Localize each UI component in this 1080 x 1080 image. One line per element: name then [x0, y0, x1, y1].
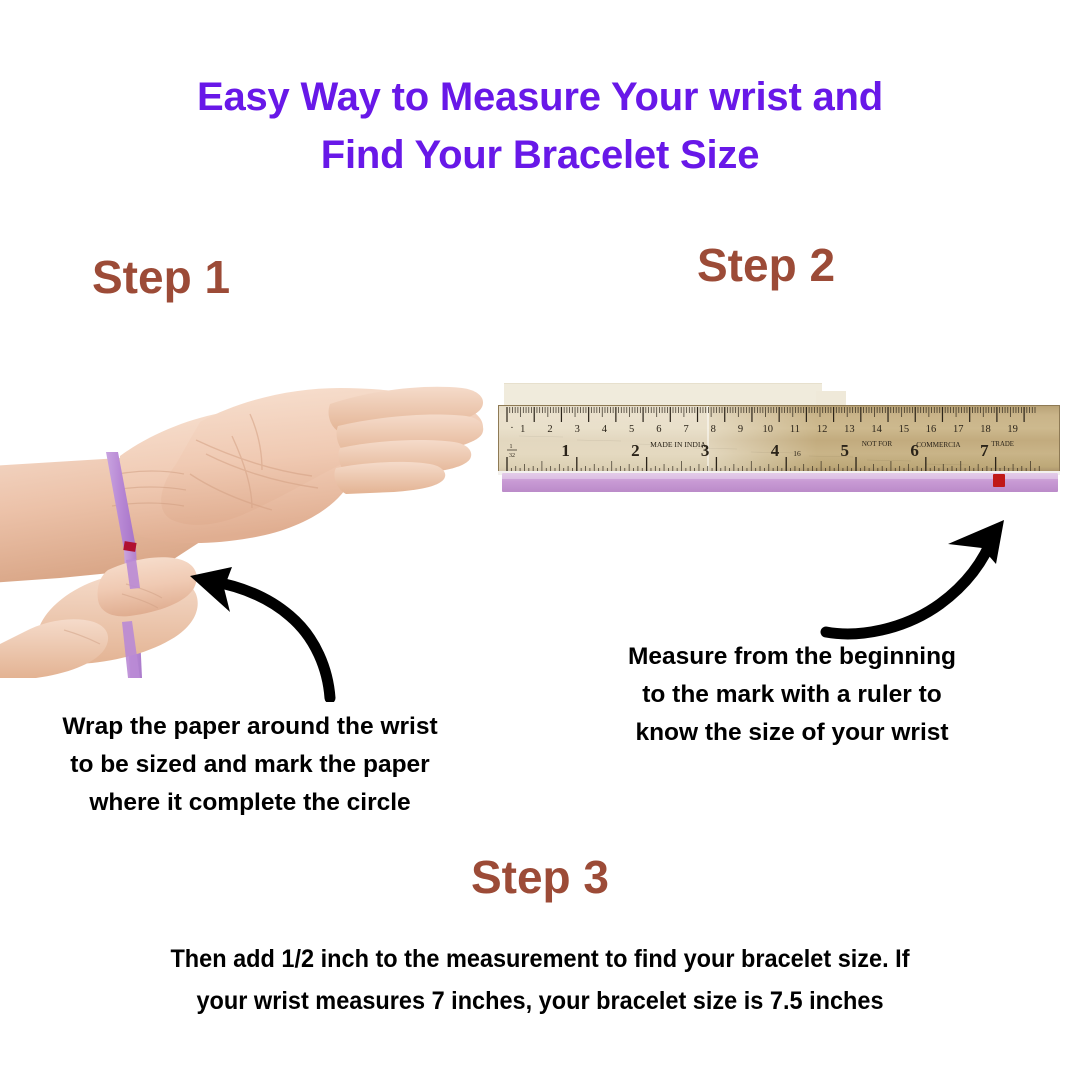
curved-arrow-up-left-icon	[178, 562, 348, 702]
wooden-ruler-over-paper-strip-photo: 12345678910111213141516171819·1234567132…	[498, 383, 1064, 495]
step-2-caption: Measure from the beginning to the mark w…	[572, 638, 1012, 752]
svg-text:6: 6	[656, 424, 661, 435]
svg-text:4: 4	[602, 424, 608, 435]
svg-text:12: 12	[817, 424, 828, 435]
step-1-caption: Wrap the paper around the wrist to be si…	[10, 708, 490, 822]
svg-text:·: ·	[510, 422, 514, 434]
curved-arrow-up-right-icon	[818, 512, 1018, 644]
page-title-line-2: Find Your Bracelet Size	[0, 126, 1080, 184]
svg-text:8: 8	[711, 424, 716, 435]
ruler-body: 12345678910111213141516171819·1234567132…	[498, 405, 1060, 473]
step-2-caption-line-3: know the size of your wrist	[572, 714, 1012, 752]
svg-text:14: 14	[871, 424, 882, 435]
svg-text:1: 1	[520, 424, 525, 435]
svg-text:1: 1	[510, 444, 513, 450]
svg-text:15: 15	[899, 424, 910, 435]
svg-text:7: 7	[980, 441, 989, 460]
svg-text:3: 3	[575, 424, 580, 435]
step-1-caption-line-2: to be sized and mark the paper	[10, 746, 490, 784]
step-1-caption-line-3: where it complete the circle	[10, 784, 490, 822]
purple-paper-strip	[502, 473, 1058, 492]
step-2-caption-line-1: Measure from the beginning	[572, 638, 1012, 676]
svg-text:NOT FOR: NOT FOR	[862, 440, 893, 448]
svg-text:COMMERCIA: COMMERCIA	[916, 441, 961, 449]
page-title: Easy Way to Measure Your wrist and Find …	[0, 68, 1080, 184]
svg-text:16: 16	[793, 449, 801, 458]
svg-text:4: 4	[771, 441, 780, 460]
paper-strip-highlight	[502, 473, 1058, 479]
svg-text:19: 19	[1007, 424, 1018, 435]
svg-text:11: 11	[790, 424, 800, 435]
step-2-caption-line-2: to the mark with a ruler to	[572, 676, 1012, 714]
svg-text:16: 16	[926, 424, 937, 435]
infographic-page: Easy Way to Measure Your wrist and Find …	[0, 0, 1080, 1080]
step-2-heading: Step 2	[697, 238, 835, 292]
svg-text:2: 2	[547, 424, 552, 435]
ruler-scale-markings: 12345678910111213141516171819·1234567132…	[499, 406, 1060, 473]
svg-text:10: 10	[762, 424, 773, 435]
step-1-heading: Step 1	[92, 250, 230, 304]
svg-text:TRADE: TRADE	[991, 441, 1014, 448]
step-3-caption-line-2: your wrist measures 7 inches, your brace…	[89, 980, 991, 1022]
svg-text:9: 9	[738, 424, 743, 435]
svg-text:7: 7	[683, 424, 688, 435]
red-measurement-mark	[993, 474, 1005, 487]
svg-text:13: 13	[844, 424, 855, 435]
step-3-caption: Then add 1/2 inch to the measurement to …	[89, 938, 991, 1022]
step-1-caption-line-1: Wrap the paper around the wrist	[10, 708, 490, 746]
svg-text:5: 5	[629, 424, 634, 435]
svg-text:17: 17	[953, 424, 964, 435]
svg-text:1: 1	[561, 441, 570, 460]
step-3-heading: Step 3	[0, 850, 1080, 904]
step-3-caption-line-1: Then add 1/2 inch to the measurement to …	[89, 938, 991, 980]
page-title-line-1: Easy Way to Measure Your wrist and	[0, 68, 1080, 126]
svg-text:32: 32	[509, 453, 515, 459]
svg-text:18: 18	[980, 424, 991, 435]
